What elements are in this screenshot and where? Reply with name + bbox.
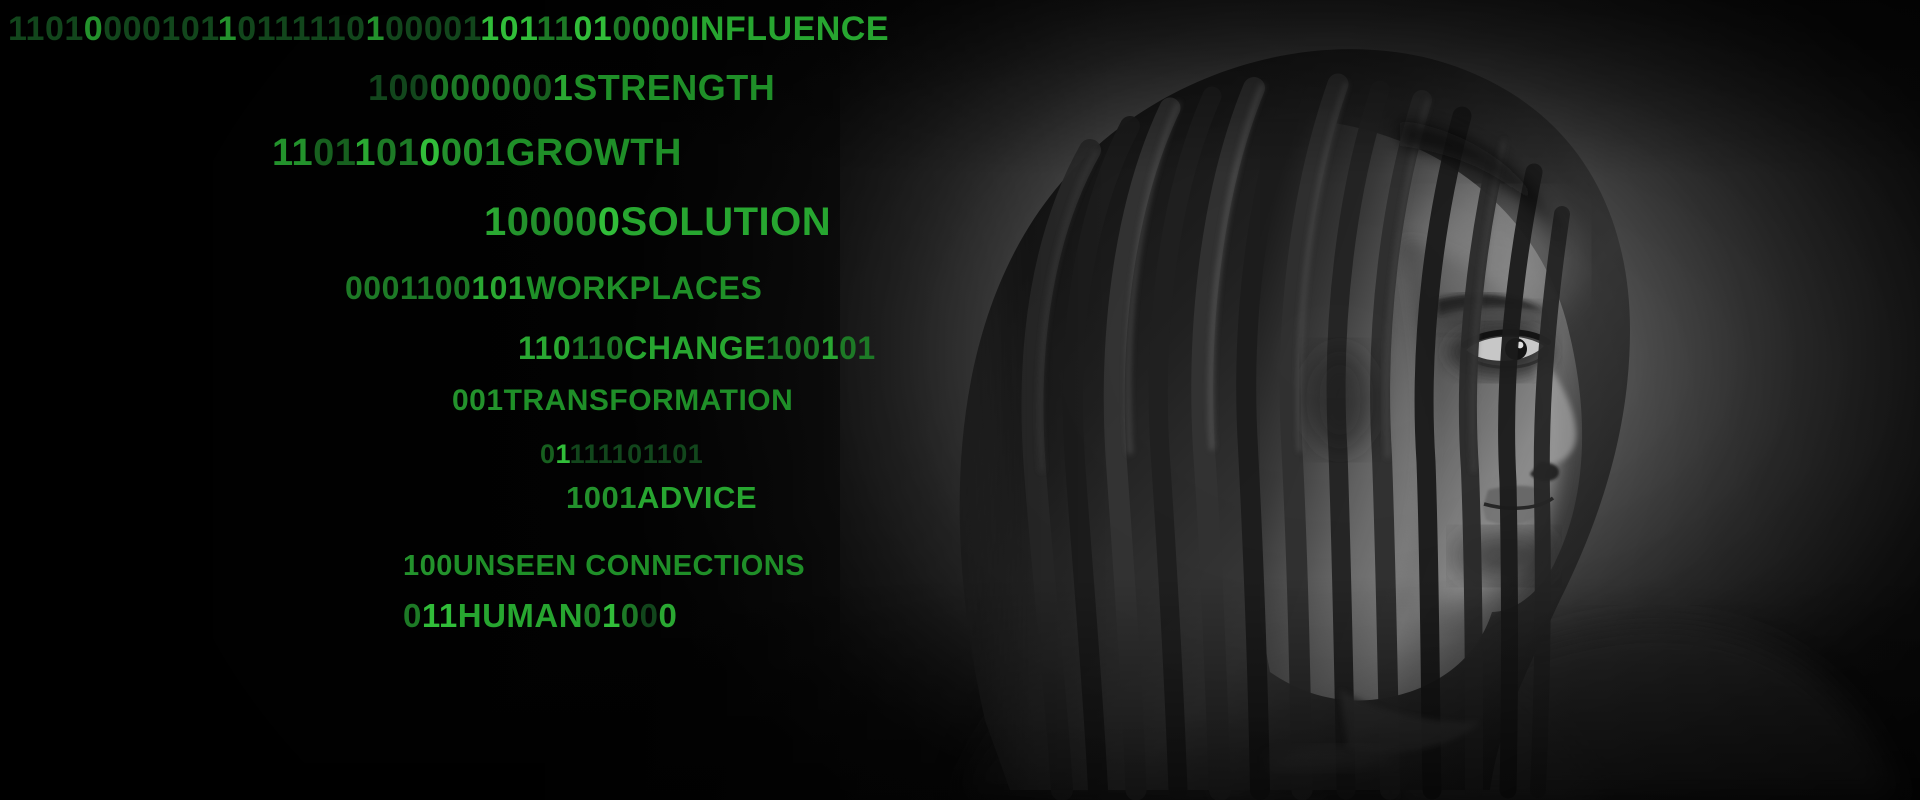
background-gradient xyxy=(0,0,1920,800)
hero-banner: 110100001011011111010000110111010000INFL… xyxy=(0,0,1920,800)
